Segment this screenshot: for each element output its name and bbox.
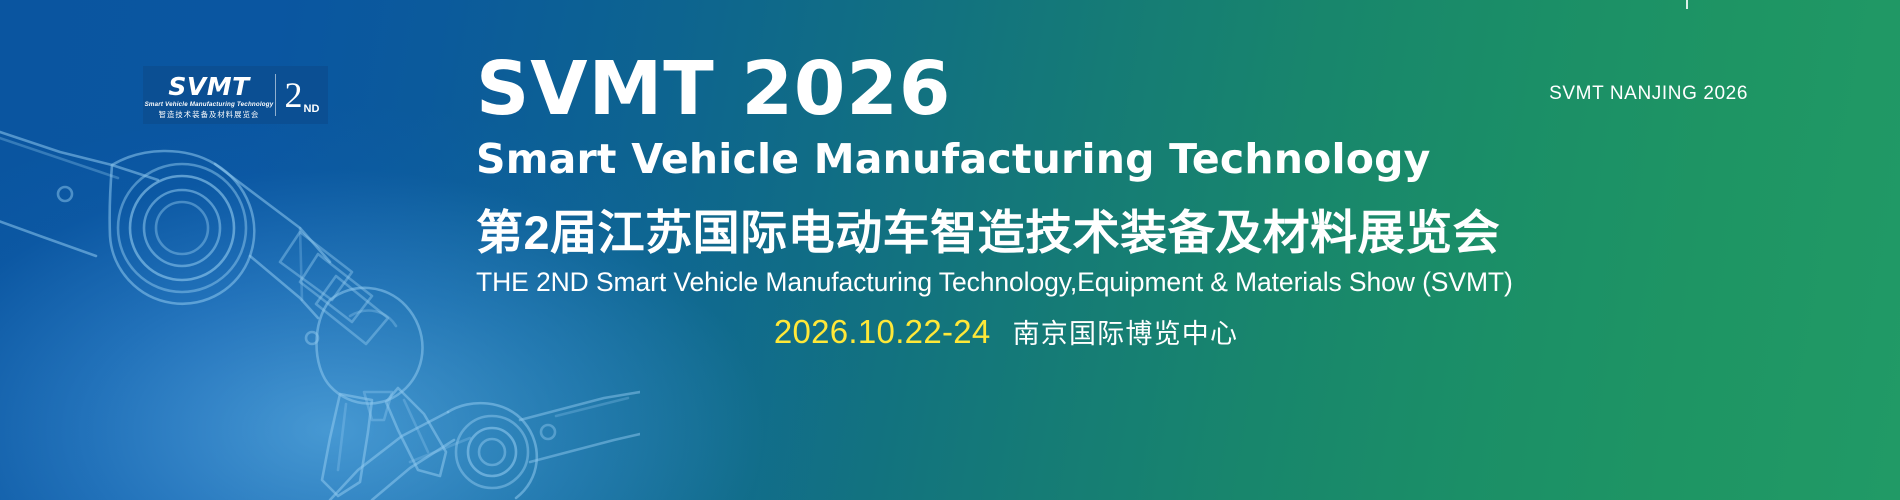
svmt-logo: SVMT Smart Vehicle Manufacturing Technol… [143,66,328,124]
logo-edition-suffix: ND [304,104,320,124]
event-venue: 南京国际博览中心 [1013,321,1239,348]
page-title: SVMT 2026 [476,52,1536,126]
logo-tagline-en: Smart Vehicle Manufacturing Technology [145,102,274,108]
event-banner: SVMT Smart Vehicle Manufacturing Technol… [0,0,1900,500]
logo-wordmark: SVMT [168,74,249,99]
banner-content: SVMT 2026 Smart Vehicle Manufacturing Te… [476,52,1536,348]
corner-speck [1686,0,1688,9]
event-date: 2026.10.22-24 [774,315,991,348]
headline-chinese: 第2届江苏国际电动车智造技术装备及材料展览会 [476,207,1536,260]
page-subtitle: Smart Vehicle Manufacturing Technology [476,136,1536,183]
headline-english: THE 2ND Smart Vehicle Manufacturing Tech… [476,267,1536,297]
logo-edition-number: 2 [285,77,303,113]
logo-edition-badge: 2 ND [276,66,328,124]
corner-mark: SVMT NANJING 2026 [1549,83,1748,105]
logo-tagline-cn: 智造技术装备及材料展览会 [159,111,260,118]
event-details: 2026.10.22-24 南京国际博览中心 [476,315,1536,348]
logo-wordmark-group: SVMT Smart Vehicle Manufacturing Technol… [143,66,275,124]
